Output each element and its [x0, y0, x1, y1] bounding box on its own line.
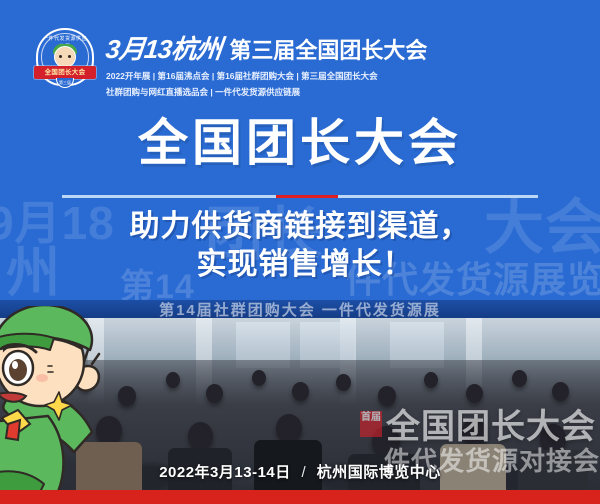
header-event-title: 第三届全国团长大会	[229, 33, 427, 65]
event-date: 2022年3月13-14日	[159, 464, 291, 481]
mascot-pupil	[9, 359, 27, 381]
badge-mascot-eye-left-icon	[59, 55, 62, 58]
header-subtitle-line-2: 社群团购与网红直播选品会 | 一件代发货源供应链展	[106, 86, 427, 98]
poster: 9月18 州 第14 团长 大会 件代发货源展览 一件代发货源供应链展 全国团长…	[0, 0, 600, 504]
photo-watermark-badge: 首届	[360, 411, 382, 437]
tagline-line-1: 助力供货商链接到渠道，	[0, 208, 600, 246]
tagline: 助力供货商链接到渠道， 实现销售增长！	[0, 208, 600, 284]
badge-mascot-eye-right-icon	[68, 55, 71, 58]
mascot-mouth	[0, 393, 26, 402]
badge-tail-label: 第三届	[56, 78, 74, 88]
blue-header-area: 9月18 州 第14 团长 大会 件代发货源展览 一件代发货源供应链展 全国团长…	[0, 0, 600, 312]
mascot-eye-highlight	[12, 361, 18, 369]
bottom-red-bar	[0, 490, 600, 504]
crowd-person	[118, 386, 136, 406]
mascot-fingers	[84, 350, 99, 364]
crowd-person	[276, 414, 302, 443]
mascot-cheek	[36, 374, 48, 382]
event-logo-badge: 一件代发货源供应链展 全国团长大会 第三届	[34, 28, 96, 94]
header-text-block: 3月13杭州 第三届全国团长大会 2022开年展 | 第16届沸点会 | 第16…	[106, 28, 427, 98]
main-headline: 全国团长大会	[0, 118, 600, 168]
header: 一件代发货源供应链展 全国团长大会 第三届 3月13杭州 第三届全国团长大会 2…	[34, 28, 427, 98]
header-subtitle-line-1: 2022开年展 | 第16届沸点会 | 第16届社群团购大会 | 第三届全国团长…	[106, 70, 427, 82]
event-venue: 杭州国际博览中心	[317, 464, 441, 481]
crowd-person	[188, 422, 213, 450]
tagline-line-2: 实现销售增长！	[0, 246, 600, 284]
crowd-person	[292, 382, 309, 401]
crowd-person	[206, 384, 223, 403]
headline-divider	[62, 195, 538, 198]
header-date-mark: 3月13杭州	[104, 29, 223, 66]
crowd-person	[424, 372, 438, 388]
crowd-person	[166, 372, 180, 388]
event-date-venue: 2022年3月13-14日 / 杭州国际博览中心	[0, 461, 600, 482]
crowd-person	[512, 370, 527, 387]
headline-divider-accent	[276, 195, 338, 198]
crowd-person	[252, 370, 266, 386]
venue-photo: 第14届社群团购大会 一件代发货源展	[0, 300, 600, 492]
badge-mascot-face-icon	[54, 46, 76, 68]
crowd-person	[336, 374, 351, 391]
header-title-row: 3月13杭州 第三届全国团长大会	[106, 29, 427, 66]
mascot-tie	[6, 420, 20, 440]
date-venue-separator: /	[301, 464, 306, 481]
